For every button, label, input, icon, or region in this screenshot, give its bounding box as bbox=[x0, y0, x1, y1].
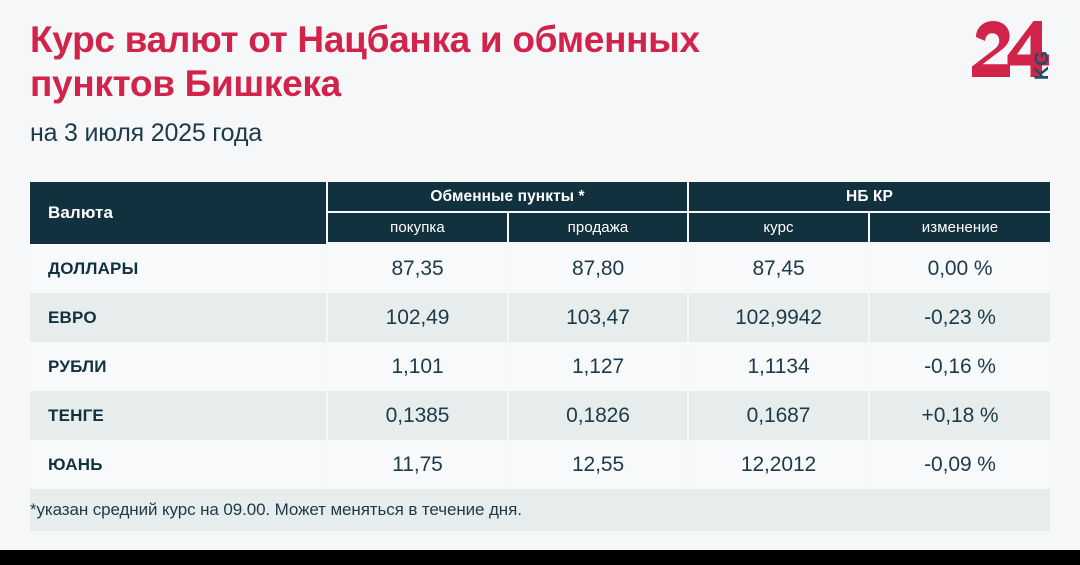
cell-buy: 102,49 bbox=[328, 293, 509, 342]
column-header-change: изменение bbox=[870, 213, 1050, 244]
cell-sell: 103,47 bbox=[509, 293, 689, 342]
table-row: ДОЛЛАРЫ 87,35 87,80 87,45 0,00 % bbox=[30, 244, 1050, 293]
cell-nbkr-change: -0,23 % bbox=[870, 293, 1050, 342]
cell-sell: 0,1826 bbox=[509, 391, 689, 440]
cell-currency-name: РУБЛИ bbox=[30, 342, 328, 391]
table-row: ТЕНГЕ 0,1385 0,1826 0,1687 +0,18 % bbox=[30, 391, 1050, 440]
cell-nbkr-rate: 102,9942 bbox=[689, 293, 870, 342]
cell-nbkr-rate: 12,2012 bbox=[689, 440, 870, 489]
column-header-currency: Валюта bbox=[30, 182, 328, 244]
svg-text:KG: KG bbox=[1032, 51, 1053, 81]
cell-nbkr-rate: 87,45 bbox=[689, 244, 870, 293]
column-header-rate: курс bbox=[689, 213, 870, 244]
table-head: Валюта Обменные пункты * НБ КР покупка п… bbox=[30, 182, 1050, 244]
cell-nbkr-change: -0,09 % bbox=[870, 440, 1050, 489]
column-header-buy: покупка bbox=[328, 213, 509, 244]
cell-sell: 12,55 bbox=[509, 440, 689, 489]
cell-buy: 87,35 bbox=[328, 244, 509, 293]
infographic-page: Курс валют от Нацбанка и обменных пункто… bbox=[0, 0, 1080, 565]
table-body: ДОЛЛАРЫ 87,35 87,80 87,45 0,00 % ЕВРО 10… bbox=[30, 244, 1050, 531]
page-header: Курс валют от Нацбанка и обменных пункто… bbox=[30, 18, 1050, 148]
cell-currency-name: ЮАНЬ bbox=[30, 440, 328, 489]
cell-currency-name: ЕВРО bbox=[30, 293, 328, 342]
table-footnote-row: *указан средний курс на 09.00. Может мен… bbox=[30, 489, 1050, 531]
cell-sell: 1,127 bbox=[509, 342, 689, 391]
table-row: ЕВРО 102,49 103,47 102,9942 -0,23 % bbox=[30, 293, 1050, 342]
brand-logo-24kg: KG bbox=[970, 20, 1056, 84]
cell-currency-name: ТЕНГЕ bbox=[30, 391, 328, 440]
exchange-rates-table-container: Валюта Обменные пункты * НБ КР покупка п… bbox=[30, 182, 1050, 531]
cell-nbkr-change: +0,18 % bbox=[870, 391, 1050, 440]
cell-buy: 11,75 bbox=[328, 440, 509, 489]
page-title: Курс валют от Нацбанка и обменных пункто… bbox=[30, 18, 730, 105]
column-header-sell: продажа bbox=[509, 213, 689, 244]
exchange-rates-table: Валюта Обменные пункты * НБ КР покупка п… bbox=[30, 182, 1050, 531]
cell-nbkr-change: 0,00 % bbox=[870, 244, 1050, 293]
cell-nbkr-rate: 0,1687 bbox=[689, 391, 870, 440]
header-row-groups: Валюта Обменные пункты * НБ КР bbox=[30, 182, 1050, 213]
cell-sell: 87,80 bbox=[509, 244, 689, 293]
table-footnote: *указан средний курс на 09.00. Может мен… bbox=[30, 489, 1050, 531]
column-group-header-nbkr: НБ КР bbox=[689, 182, 1050, 213]
table-row: РУБЛИ 1,101 1,127 1,1134 -0,16 % bbox=[30, 342, 1050, 391]
cell-nbkr-change: -0,16 % bbox=[870, 342, 1050, 391]
cell-currency-name: ДОЛЛАРЫ bbox=[30, 244, 328, 293]
cell-nbkr-rate: 1,1134 bbox=[689, 342, 870, 391]
table-row: ЮАНЬ 11,75 12,55 12,2012 -0,09 % bbox=[30, 440, 1050, 489]
bottom-bar bbox=[0, 550, 1080, 565]
column-group-header-exchange-offices: Обменные пункты * bbox=[328, 182, 689, 213]
page-subtitle: на 3 июля 2025 года bbox=[30, 119, 1050, 148]
logo-kg-text: KG bbox=[1032, 51, 1053, 81]
cell-buy: 1,101 bbox=[328, 342, 509, 391]
cell-buy: 0,1385 bbox=[328, 391, 509, 440]
